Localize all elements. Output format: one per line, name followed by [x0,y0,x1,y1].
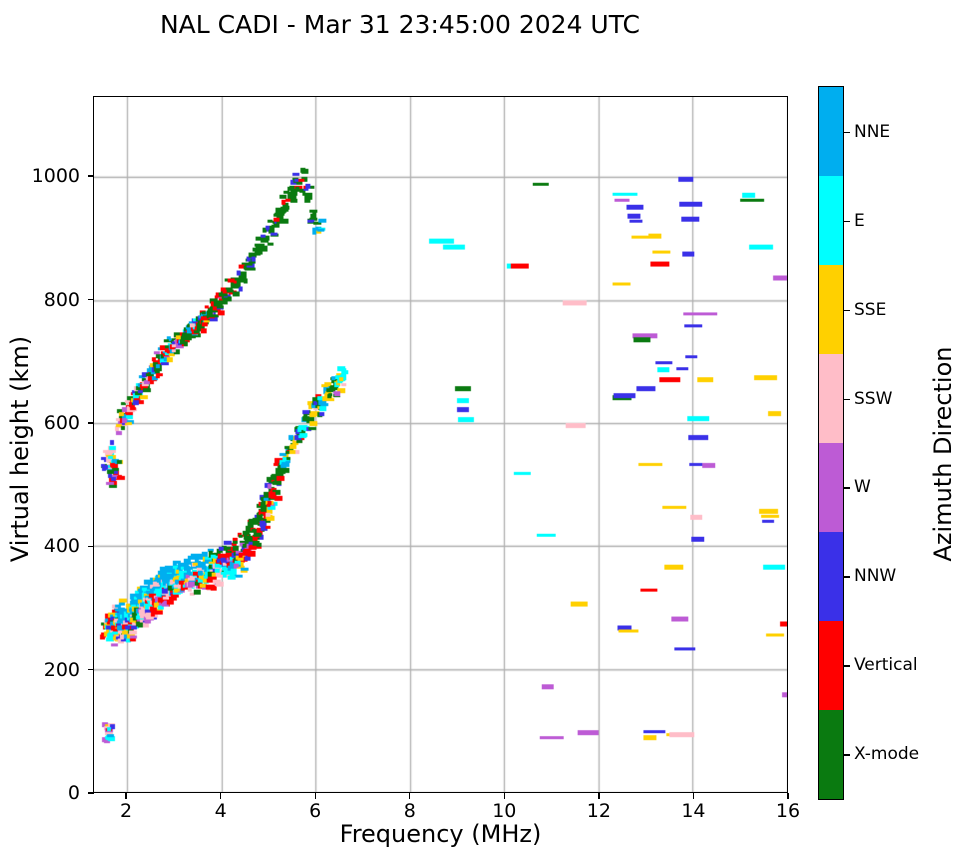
x-tick-mark [598,793,599,799]
page-title: NAL CADI - Mar 31 23:45:00 2024 UTC [0,10,800,39]
y-tick-label: 200 [44,659,80,681]
x-tick-label: 14 [681,800,705,822]
y-tick-mark [88,546,94,547]
azimuth-colorbar [818,86,844,800]
colorbar-label-x-mode: X-mode [854,744,919,764]
colorbar-label-nne: NNE [854,122,890,142]
colorbar-segment-ssw [819,354,843,443]
x-tick-label: 6 [309,800,321,822]
x-tick-mark [315,793,316,799]
ionogram-figure: NAL CADI - Mar 31 23:45:00 2024 UTC 0200… [0,0,958,857]
x-tick-mark [409,793,410,799]
y-tick-mark [88,175,94,176]
colorbar-label-vertical: Vertical [854,655,918,675]
y-axis-title: Virtual height (km) [6,99,34,799]
colorbar-segment-sse [819,265,843,354]
y-tick-mark [88,299,94,300]
x-tick-mark [220,793,221,799]
colorbar-segment-vertical [819,621,843,710]
y-tick-mark [88,422,94,423]
colorbar-segment-w [819,443,843,532]
colorbar-label-e: E [854,211,865,231]
x-tick-mark [504,793,505,799]
colorbar-label-ssw: SSW [854,389,892,409]
y-tick-label: 800 [44,289,80,311]
colorbar-tick-mark [844,399,850,400]
colorbar-tick-mark [844,487,850,488]
x-tick-mark [125,793,126,799]
x-tick-mark [693,793,694,799]
x-tick-label: 10 [492,800,516,822]
colorbar-tick-mark [844,310,850,311]
colorbar-segment-e [819,176,843,265]
x-tick-label: 2 [120,800,132,822]
y-tick-mark [88,669,94,670]
x-tick-label: 12 [587,800,611,822]
x-axis-title: Frequency (MHz) [93,820,788,848]
colorbar-segment-nnw [819,532,843,621]
colorbar-label-nnw: NNW [854,566,896,586]
x-tick-mark [787,793,788,799]
colorbar-label-sse: SSE [854,300,886,320]
colorbar-tick-mark [844,665,850,666]
x-tick-label: 4 [215,800,227,822]
x-tick-label: 16 [776,800,800,822]
x-tick-label: 8 [404,800,416,822]
y-tick-label: 600 [44,412,80,434]
colorbar-tick-mark [844,754,850,755]
colorbar-tick-mark [844,221,850,222]
plot-area [93,96,788,793]
colorbar-title: Azimuth Direction [929,104,957,804]
y-tick-label: 400 [44,535,80,557]
y-tick-mark [88,792,94,793]
colorbar-tick-mark [844,132,850,133]
colorbar-label-w: W [854,477,871,497]
colorbar-tick-mark [844,576,850,577]
y-tick-label: 1000 [32,165,80,187]
colorbar-segment-x-mode [819,710,843,799]
colorbar-segment-nne [819,87,843,176]
ionogram-scatter-canvas [94,97,787,792]
